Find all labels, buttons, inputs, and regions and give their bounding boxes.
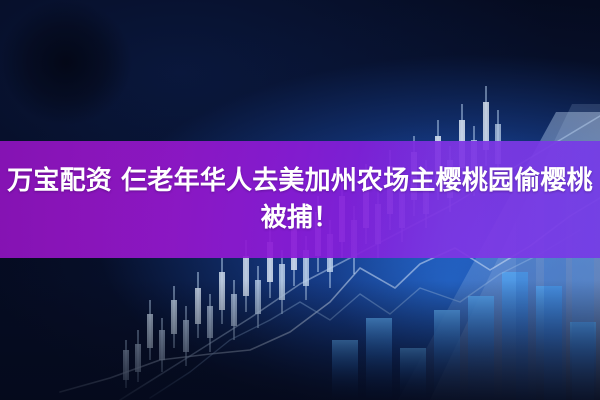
headline-text-block: 万宝配资 仨老年华人去美加州农场主樱桃园偷樱桃 被捕！ xyxy=(0,141,600,258)
news-banner-image: 万宝配资 仨老年华人去美加州农场主樱桃园偷樱桃 被捕！ xyxy=(0,0,600,400)
headline-line-2: 被捕！ xyxy=(261,200,340,237)
bottom-vignette xyxy=(0,280,600,400)
headline-line-1: 万宝配资 仨老年华人去美加州农场主樱桃园偷樱桃 xyxy=(7,163,593,200)
